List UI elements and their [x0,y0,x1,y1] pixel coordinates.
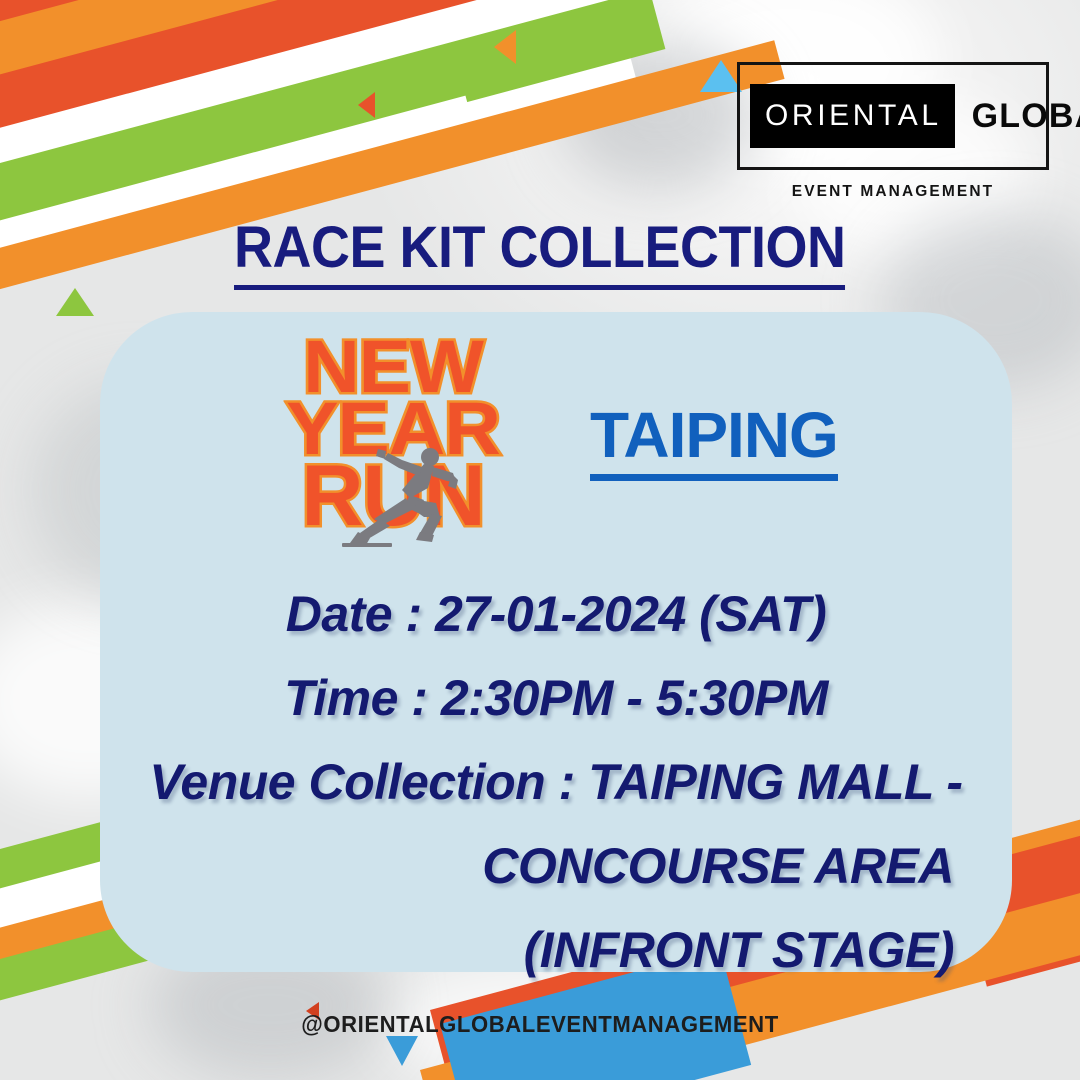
triangle-sky-icon [700,60,742,92]
detail-venue-line-3: (INFRONT STAGE) [100,908,1012,992]
logo-word-oriental: ORIENTAL [750,84,955,148]
brand-logo: ORIENTAL GLOBAL EVENT MANAGEMENT [737,62,1049,201]
detail-date: Date : 27-01-2024 (SAT) [100,572,1012,656]
event-details: Date : 27-01-2024 (SAT) Time : 2:30PM - … [100,572,1012,992]
page-title-text: RACE KIT COLLECTION [234,214,845,290]
location-title: TAIPING [590,398,838,481]
runner-silhouette-icon [306,440,486,550]
detail-venue-line-1: Venue Collection : TAIPING MALL - [100,740,1012,824]
logo-word-global: GLOBAL [955,99,1080,133]
location-title-text: TAIPING [590,398,838,481]
detail-venue-line-2: CONCOURSE AREA [100,824,1012,908]
logo-subtitle: EVENT MANAGEMENT [737,183,1049,201]
logo-frame: ORIENTAL GLOBAL [737,62,1049,170]
social-handle: @ORIENTALGLOBALEVENTMANAGEMENT [22,1011,1059,1038]
triangle-red-icon [358,92,375,118]
triangle-orange-icon [494,30,516,64]
event-logo: NEW YEAR RUN [228,336,558,533]
triangle-green-icon [56,288,94,316]
triangle-sky-icon [386,1036,418,1066]
page-title: RACE KIT COLLECTION [0,214,1080,290]
poster-canvas: ORIENTAL GLOBAL EVENT MANAGEMENT RACE KI… [0,0,1080,1080]
detail-time: Time : 2:30PM - 5:30PM [100,656,1012,740]
